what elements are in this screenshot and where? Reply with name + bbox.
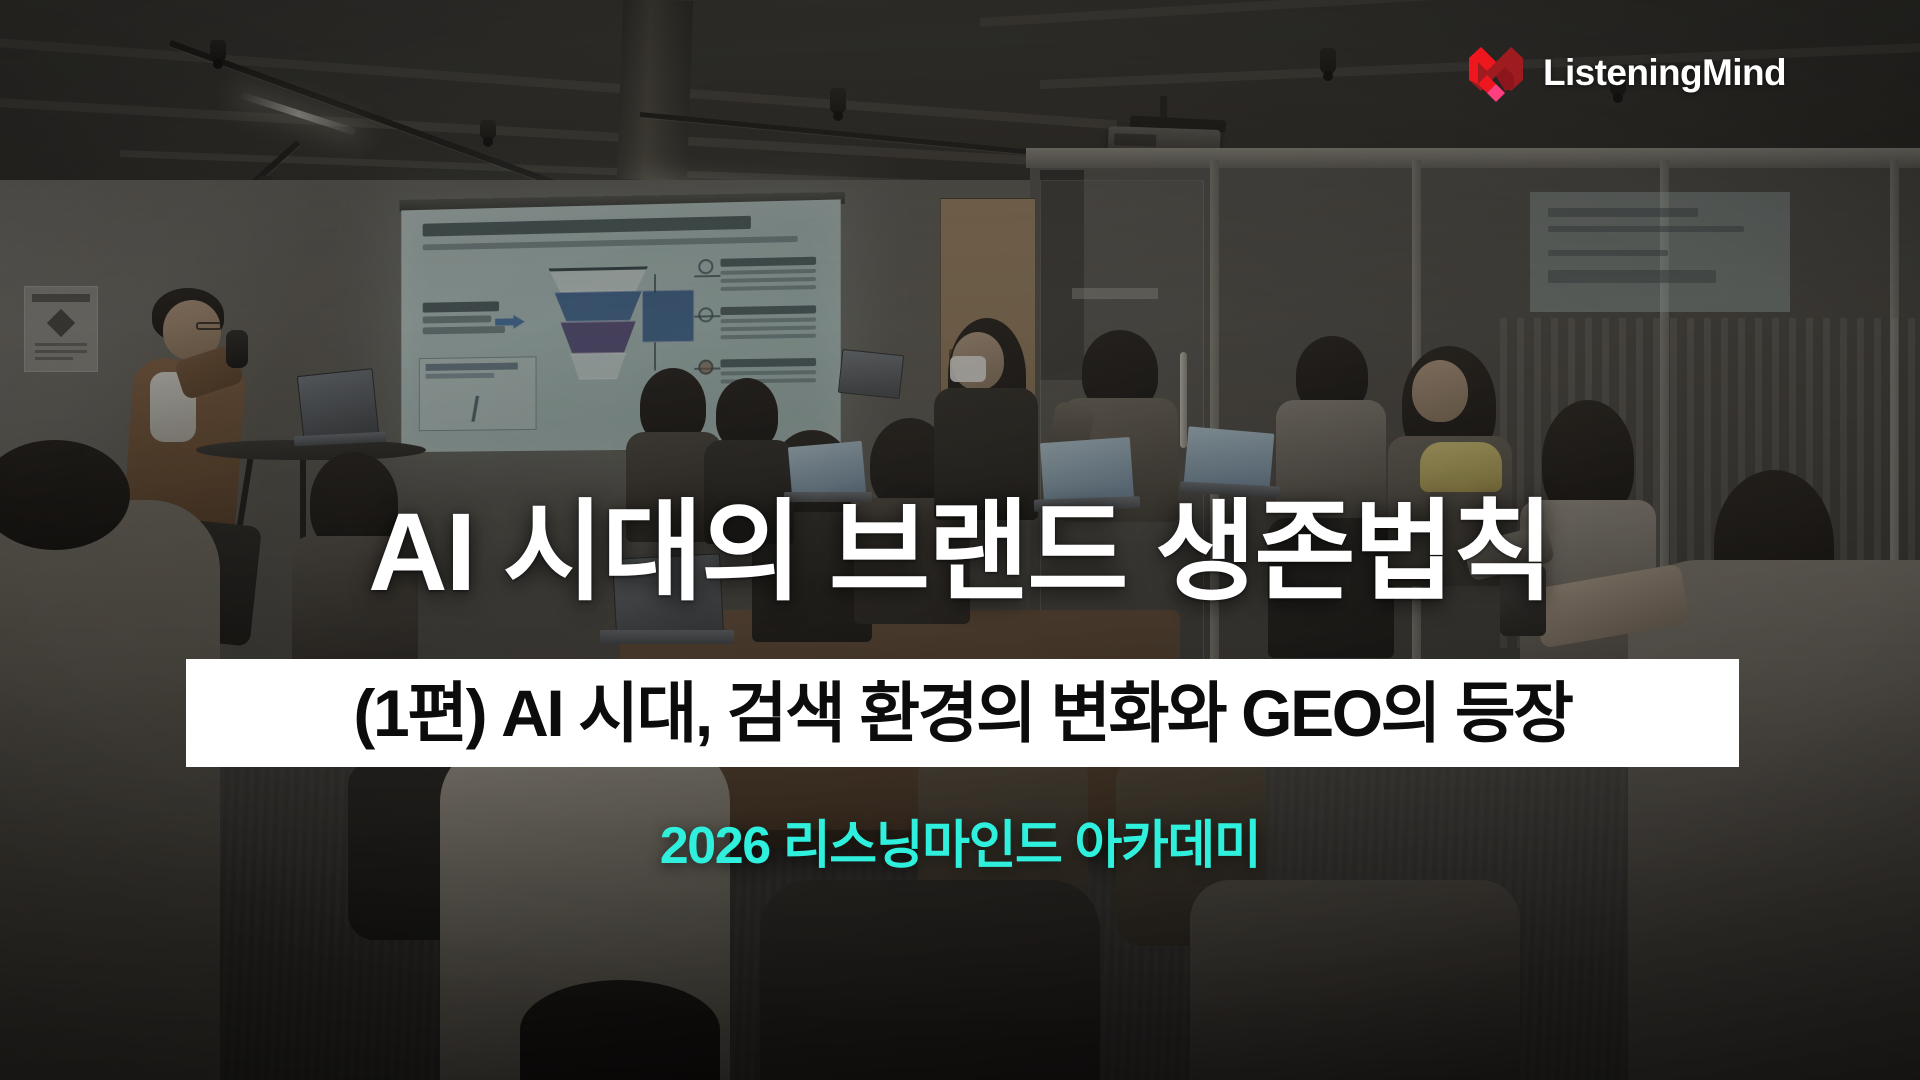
- brand-name: ListeningMind: [1543, 52, 1786, 94]
- series-tagline: 2026 리스닝마인드 아카데미: [0, 803, 1920, 878]
- listeningmind-logo-icon: [1465, 44, 1527, 102]
- page-subtitle: (1편) AI 시대, 검색 환경의 변화와 GEO의 등장: [353, 680, 1571, 746]
- presentation-thumbnail: ListeningMind AI 시대의 브랜드 생존법칙 (1편) AI 시대…: [0, 0, 1920, 1080]
- page-title: AI 시대의 브랜드 생존법칙: [0, 498, 1920, 608]
- brand-logo: ListeningMind: [1465, 44, 1786, 102]
- subtitle-bar: (1편) AI 시대, 검색 환경의 변화와 GEO의 등장: [186, 659, 1739, 767]
